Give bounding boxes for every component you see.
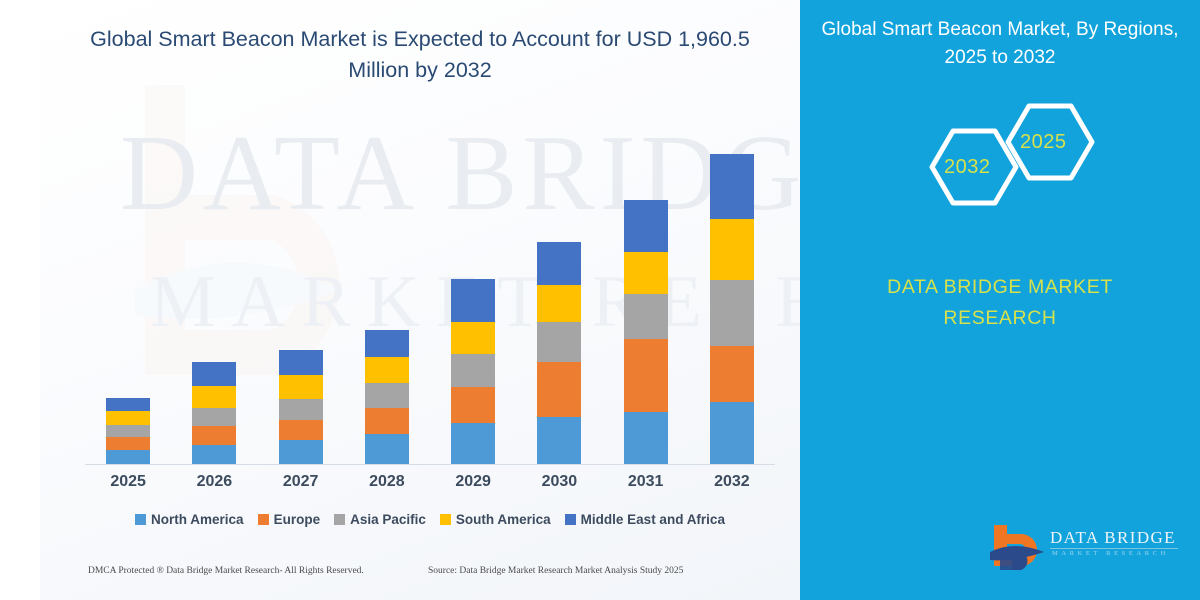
bar-segment-middle-east-and-africa[interactable] (451, 279, 495, 322)
bar-segment-middle-east-and-africa[interactable] (279, 350, 323, 375)
legend-item-middle-east-and-africa[interactable]: Middle East and Africa (565, 512, 725, 527)
footer: DMCA Protected ® Data Bridge Market Rese… (0, 566, 800, 588)
bar-segment-middle-east-and-africa[interactable] (710, 154, 754, 219)
data-bridge-logo-icon (988, 522, 1046, 574)
logo-tagline: MARKET RESEARCH (1052, 550, 1169, 557)
bar-column-2032[interactable] (710, 154, 754, 465)
bar-segment-asia-pacific[interactable] (451, 354, 495, 387)
chart-panel: DATA BRIDGE MARKET RESEARCH Global Smart… (0, 0, 800, 600)
x-axis-labels: 20252026202720282029203020312032 (85, 473, 775, 499)
legend-label: South America (456, 512, 551, 527)
bar-column-2028[interactable] (365, 330, 409, 465)
bar-segment-north-america[interactable] (279, 440, 323, 465)
bar-segment-asia-pacific[interactable] (106, 425, 150, 437)
x-axis-label-2028: 2028 (347, 473, 427, 491)
brand-panel: Global Smart Beacon Market, By Regions, … (800, 0, 1200, 600)
legend-swatch-icon (440, 514, 451, 525)
legend-swatch-icon (565, 514, 576, 525)
hexagon-group: 2032 2025 (912, 102, 1112, 232)
brand-line-2: RESEARCH (943, 307, 1056, 329)
legend-swatch-icon (135, 514, 146, 525)
x-axis-label-2031: 2031 (606, 473, 686, 491)
logo-divider (1050, 548, 1178, 549)
x-axis-line (85, 464, 775, 465)
bar-column-2031[interactable] (624, 200, 668, 465)
legend-swatch-icon (334, 514, 345, 525)
bar-segment-south-america[interactable] (192, 386, 236, 408)
bar-chart-plot (85, 130, 775, 465)
bar-segment-north-america[interactable] (537, 417, 581, 465)
legend-label: Europe (274, 512, 321, 527)
bar-segment-middle-east-and-africa[interactable] (624, 200, 668, 252)
legend-item-north-america[interactable]: North America (135, 512, 244, 527)
hexagon-outline-icon (912, 102, 1112, 232)
bar-segment-north-america[interactable] (192, 445, 236, 465)
footer-copyright: DMCA Protected ® Data Bridge Market Rese… (88, 566, 364, 576)
infographic-root: DATA BRIDGE MARKET RESEARCH Global Smart… (0, 0, 1200, 600)
x-axis-label-2026: 2026 (174, 473, 254, 491)
bar-segment-europe[interactable] (106, 437, 150, 450)
bar-segment-south-america[interactable] (365, 357, 409, 383)
x-axis-label-2025: 2025 (88, 473, 168, 491)
bar-segment-south-america[interactable] (451, 322, 495, 354)
bar-segment-asia-pacific[interactable] (279, 399, 323, 420)
footer-source: Source: Data Bridge Market Research Mark… (428, 566, 683, 576)
company-logo: DATA BRIDGE MARKET RESEARCH (988, 522, 1188, 578)
bar-segment-south-america[interactable] (710, 219, 754, 280)
bar-segment-middle-east-and-africa[interactable] (537, 242, 581, 285)
legend-item-asia-pacific[interactable]: Asia Pacific (334, 512, 426, 527)
hexagon-label-2032: 2032 (944, 156, 991, 179)
bar-segment-europe[interactable] (365, 408, 409, 434)
bar-column-2029[interactable] (451, 279, 495, 465)
bar-segment-middle-east-and-africa[interactable] (192, 362, 236, 386)
x-axis-label-2030: 2030 (519, 473, 599, 491)
bar-segment-north-america[interactable] (365, 434, 409, 465)
hexagon-label-2025: 2025 (1020, 131, 1067, 154)
bar-segment-south-america[interactable] (537, 285, 581, 322)
bar-segment-europe[interactable] (192, 426, 236, 445)
bar-segment-asia-pacific[interactable] (624, 294, 668, 339)
chart-legend: North AmericaEuropeAsia PacificSouth Ame… (85, 512, 775, 527)
legend-item-europe[interactable]: Europe (258, 512, 321, 527)
legend-item-south-america[interactable]: South America (440, 512, 551, 527)
bar-segment-asia-pacific[interactable] (710, 280, 754, 346)
brand-name: DATA BRIDGE MARKET RESEARCH (820, 272, 1180, 334)
bar-column-2030[interactable] (537, 242, 581, 465)
bar-segment-europe[interactable] (624, 339, 668, 412)
bar-segment-asia-pacific[interactable] (192, 408, 236, 426)
bar-column-2026[interactable] (192, 362, 236, 465)
x-axis-label-2032: 2032 (692, 473, 772, 491)
bar-segment-europe[interactable] (451, 387, 495, 423)
bar-segment-south-america[interactable] (279, 375, 323, 399)
legend-label: North America (151, 512, 244, 527)
bar-segment-asia-pacific[interactable] (365, 383, 409, 408)
bar-segment-north-america[interactable] (106, 450, 150, 465)
logo-wordmark: DATA BRIDGE (1050, 528, 1176, 548)
bar-segment-middle-east-and-africa[interactable] (365, 330, 409, 357)
bar-segment-south-america[interactable] (106, 411, 150, 425)
legend-swatch-icon (258, 514, 269, 525)
bar-column-2027[interactable] (279, 350, 323, 465)
legend-label: Asia Pacific (350, 512, 426, 527)
x-axis-label-2027: 2027 (261, 473, 341, 491)
bar-segment-north-america[interactable] (451, 423, 495, 465)
bar-segment-europe[interactable] (710, 346, 754, 402)
bar-segment-south-america[interactable] (624, 252, 668, 294)
x-axis-label-2029: 2029 (433, 473, 513, 491)
bar-segment-north-america[interactable] (710, 402, 754, 465)
bar-segment-asia-pacific[interactable] (537, 322, 581, 362)
brand-line-1: DATA BRIDGE MARKET (887, 276, 1113, 298)
legend-label: Middle East and Africa (581, 512, 725, 527)
brand-panel-title: Global Smart Beacon Market, By Regions, … (820, 16, 1180, 71)
bar-segment-north-america[interactable] (624, 412, 668, 465)
bar-segment-middle-east-and-africa[interactable] (106, 398, 150, 411)
bar-segment-europe[interactable] (279, 420, 323, 440)
page-title: Global Smart Beacon Market is Expected t… (60, 24, 780, 85)
bar-segment-europe[interactable] (537, 362, 581, 417)
bar-column-2025[interactable] (106, 398, 150, 465)
